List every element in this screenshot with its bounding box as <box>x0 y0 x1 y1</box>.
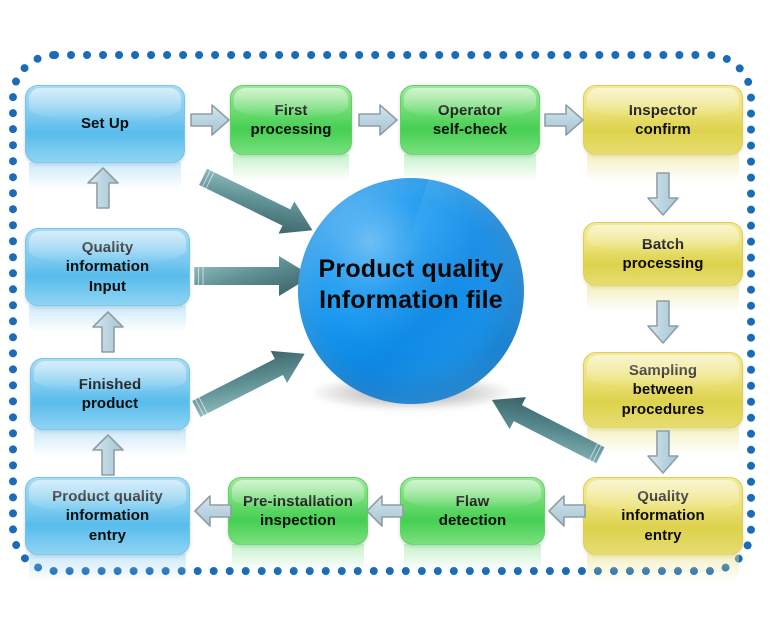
arrow-operator-to-inspector-icon <box>544 103 584 137</box>
arrow-sampling-to-quality-icon <box>646 430 680 474</box>
node-finished-product[interactable]: Finishedproduct <box>30 358 190 430</box>
diagram-canvas: Set Up Firstprocessing Operatorself-chec… <box>0 0 771 637</box>
node-pre-installation-inspection[interactable]: Pre-installationinspection <box>228 477 368 545</box>
arrow-quality-to-flaw-icon <box>548 494 586 528</box>
node-quality-information-input-label: QualityinformationInput <box>33 238 182 296</box>
arrow-setup-to-first-icon <box>190 103 230 137</box>
arrow-first-to-operator-icon <box>358 103 398 137</box>
node-quality-information-input[interactable]: QualityinformationInput <box>25 228 190 306</box>
arrow-product-to-finished-icon <box>91 434 125 476</box>
arrow-batch-to-sampling-icon <box>646 300 680 344</box>
arrow-inspector-to-batch-icon <box>646 172 680 216</box>
node-batch-processing[interactable]: Batchprocessing <box>583 222 743 286</box>
sphere-label-line2: Information file <box>298 285 524 316</box>
node-product-quality-information-entry-label: Product qualityinformationentry <box>33 487 182 545</box>
sphere-label: Product quality Information file <box>298 254 524 315</box>
node-set-up[interactable]: Set Up <box>25 85 185 163</box>
arrow-finished-to-qinput-icon <box>91 311 125 353</box>
node-inspector-confirm[interactable]: Inspectorconfirm <box>583 85 743 155</box>
node-operator-self-check[interactable]: Operatorself-check <box>400 85 540 155</box>
arrow-qinput-to-setup-icon <box>86 167 120 209</box>
central-sphere[interactable]: Product quality Information file <box>298 178 524 404</box>
node-inspector-confirm-label: Inspectorconfirm <box>591 101 735 139</box>
node-quality-information-entry[interactable]: Qualityinformationentry <box>583 477 743 555</box>
arrow-preinstall-to-product-icon <box>194 494 232 528</box>
node-first-processing[interactable]: Firstprocessing <box>230 85 352 155</box>
node-product-quality-information-entry[interactable]: Product qualityinformationentry <box>25 477 190 555</box>
node-flaw-detection-label: Flawdetection <box>408 492 537 530</box>
node-flaw-detection[interactable]: Flawdetection <box>400 477 545 545</box>
sphere-label-line1: Product quality <box>298 254 524 285</box>
node-pre-installation-inspection-label: Pre-installationinspection <box>236 492 360 530</box>
node-finished-product-label: Finishedproduct <box>38 375 182 413</box>
node-sampling-between-procedures-label: Samplingbetweenprocedures <box>591 361 735 419</box>
node-first-processing-label: Firstprocessing <box>238 101 344 139</box>
node-sampling-between-procedures[interactable]: Samplingbetweenprocedures <box>583 352 743 428</box>
node-operator-self-check-label: Operatorself-check <box>408 101 532 139</box>
node-quality-information-entry-label: Qualityinformationentry <box>591 487 735 545</box>
node-batch-processing-label: Batchprocessing <box>591 235 735 273</box>
arrow-flaw-to-preinstall-icon <box>366 494 404 528</box>
node-set-up-label: Set Up <box>33 114 177 133</box>
